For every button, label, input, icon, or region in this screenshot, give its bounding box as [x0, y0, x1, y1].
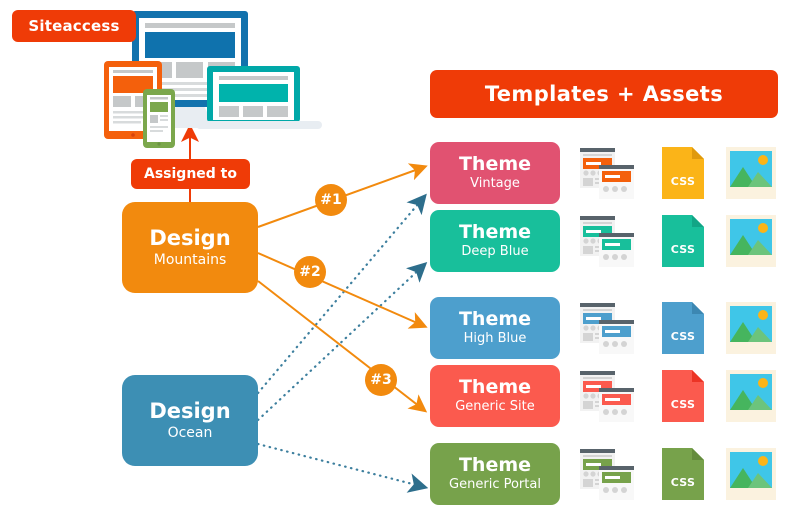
theme-row-high-blue: Theme High Blue	[430, 297, 778, 359]
theme-subtitle: Generic Site	[455, 399, 535, 414]
assigned-to-label: Assigned to	[131, 159, 250, 189]
design-box-mountains[interactable]: Design Mountains	[122, 202, 258, 293]
smartphone-device-icon	[143, 89, 175, 148]
image-photo-icon[interactable]	[724, 145, 778, 201]
image-photo-icon[interactable]	[724, 213, 778, 269]
connector-marker-1: #1	[315, 184, 347, 216]
design-title: Design	[149, 400, 230, 422]
templates-assets-header: Templates + Assets	[430, 70, 778, 118]
css-label: CSS	[658, 243, 708, 256]
theme-subtitle: Vintage	[470, 176, 520, 191]
design-box-ocean[interactable]: Design Ocean	[122, 375, 258, 466]
design-title: Design	[149, 227, 230, 249]
image-photo-icon[interactable]	[724, 368, 778, 424]
theme-subtitle: High Blue	[464, 331, 527, 346]
css-label: CSS	[658, 175, 708, 188]
template-thumbnail-icon[interactable]	[578, 368, 636, 424]
theme-title: Theme	[459, 378, 531, 398]
css-file-icon[interactable]: CSS	[658, 368, 708, 424]
theme-title: Theme	[459, 456, 531, 476]
theme-row-vintage: Theme Vintage	[430, 142, 778, 204]
css-file-icon[interactable]: CSS	[658, 145, 708, 201]
theme-box-generic-site[interactable]: Theme Generic Site	[430, 365, 560, 427]
laptop-device-icon	[196, 66, 322, 129]
css-file-icon[interactable]: CSS	[658, 213, 708, 269]
image-photo-icon[interactable]	[724, 300, 778, 356]
design-subtitle: Mountains	[154, 252, 227, 268]
css-file-icon[interactable]: CSS	[658, 446, 708, 502]
template-thumbnail-icon[interactable]	[578, 446, 636, 502]
template-thumbnail-icon[interactable]	[578, 300, 636, 356]
css-file-icon[interactable]: CSS	[658, 300, 708, 356]
theme-subtitle: Deep Blue	[461, 244, 528, 259]
theme-row-deep-blue: Theme Deep Blue	[430, 210, 778, 272]
theme-title: Theme	[459, 223, 531, 243]
theme-title: Theme	[459, 155, 531, 175]
diagram-canvas: Siteaccess Assigned to Templates + Asset…	[0, 0, 788, 520]
theme-row-generic-portal: Theme Generic Portal	[430, 443, 778, 505]
theme-subtitle: Generic Portal	[449, 477, 541, 492]
design-subtitle: Ocean	[168, 425, 213, 441]
theme-box-generic-portal[interactable]: Theme Generic Portal	[430, 443, 560, 505]
theme-box-vintage[interactable]: Theme Vintage	[430, 142, 560, 204]
theme-row-generic-site: Theme Generic Site	[430, 365, 778, 427]
css-label: CSS	[658, 476, 708, 489]
connector-marker-2: #2	[294, 256, 326, 288]
template-thumbnail-icon[interactable]	[578, 213, 636, 269]
theme-box-high-blue[interactable]: Theme High Blue	[430, 297, 560, 359]
css-label: CSS	[658, 330, 708, 343]
image-photo-icon[interactable]	[724, 446, 778, 502]
theme-title: Theme	[459, 310, 531, 330]
theme-box-deep-blue[interactable]: Theme Deep Blue	[430, 210, 560, 272]
connector-marker-3: #3	[365, 364, 397, 396]
template-thumbnail-icon[interactable]	[578, 145, 636, 201]
siteaccess-badge[interactable]: Siteaccess	[12, 10, 136, 42]
css-label: CSS	[658, 398, 708, 411]
